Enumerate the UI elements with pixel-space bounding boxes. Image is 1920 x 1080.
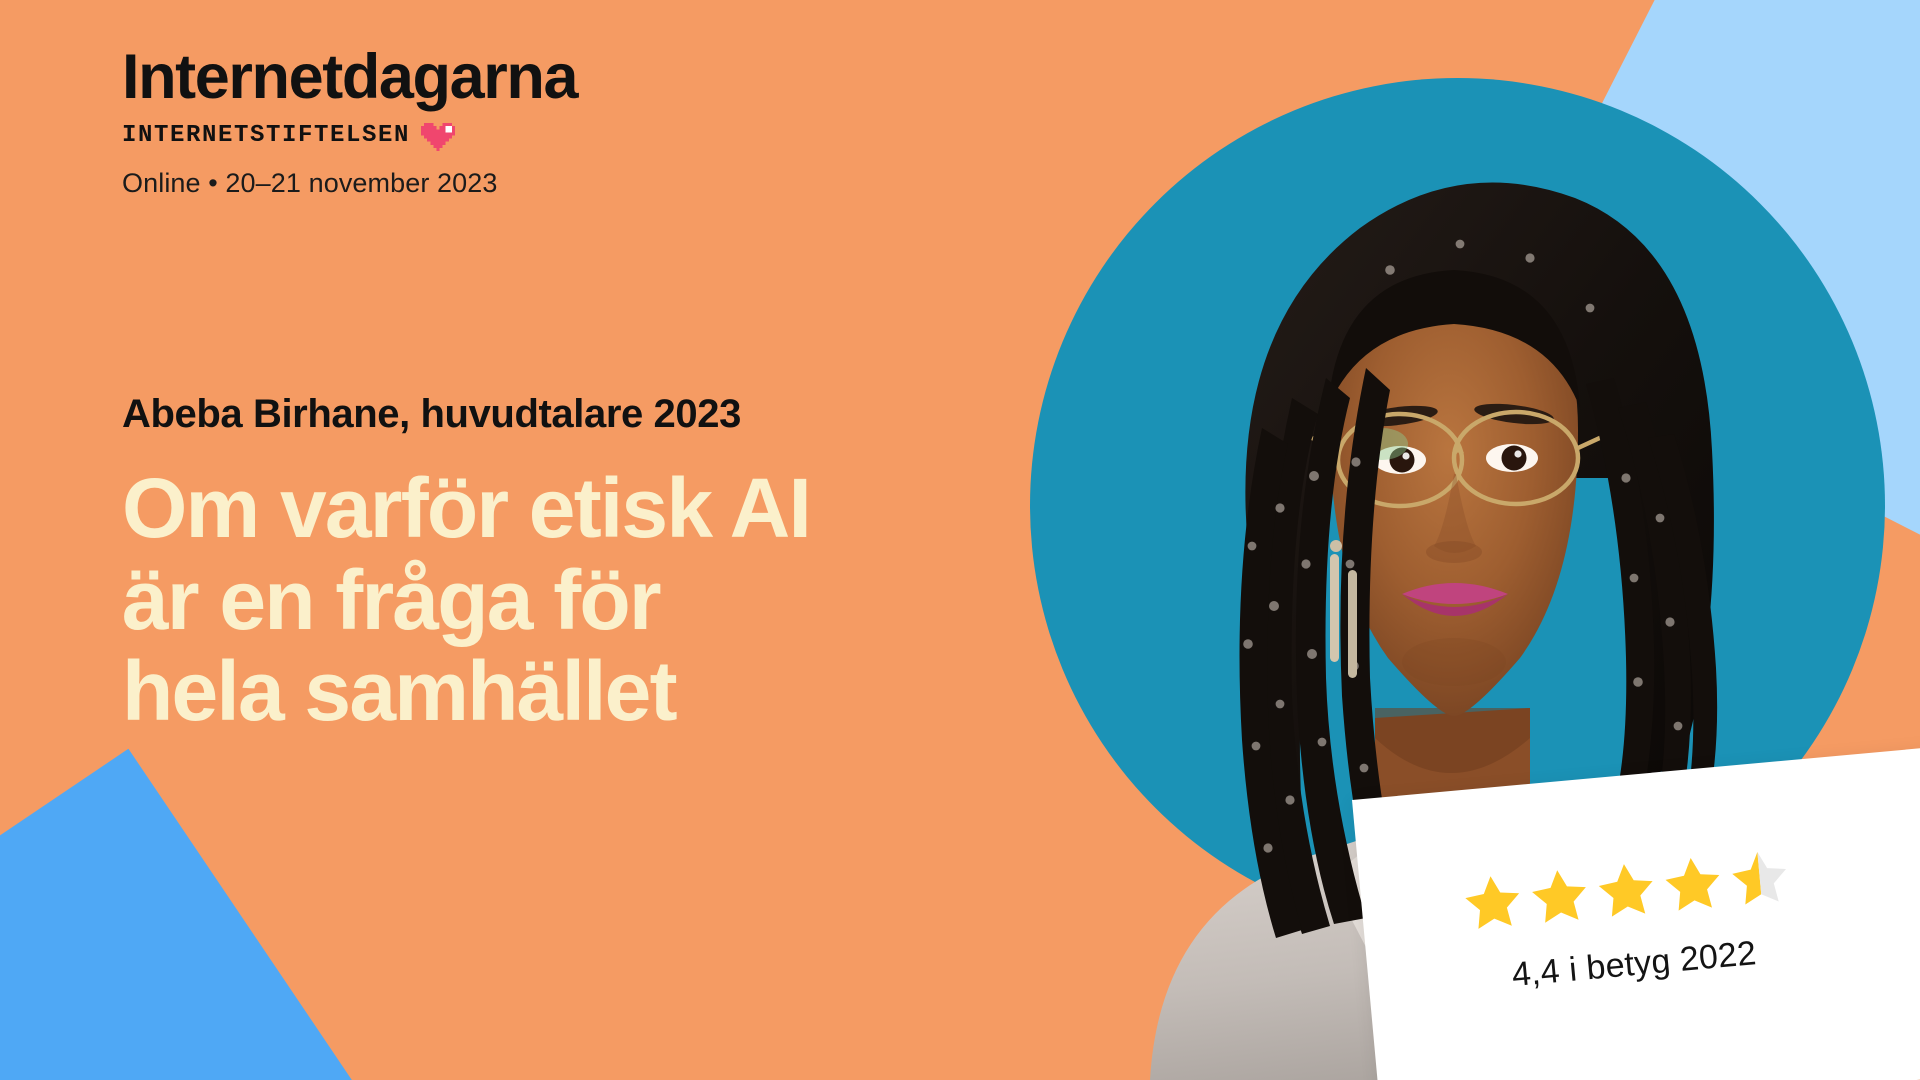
speaker-name-role: Abeba Birhane, huvudtalare 2023	[122, 392, 1022, 437]
event-title: Internetdagarna	[122, 46, 577, 109]
brand-lockup: Internetdagarna INTERNETSTIFTELSEN	[122, 46, 577, 199]
organisation-name: INTERNETSTIFTELSEN	[122, 122, 410, 149]
rating-card: 4,4 i betyg 2022	[1352, 742, 1920, 1080]
star-icon	[1659, 851, 1726, 916]
star-rating	[1459, 845, 1793, 935]
star-icon	[1459, 869, 1526, 934]
rating-label: 4,4 i betyg 2022	[1510, 934, 1758, 995]
session-title-line-1: Om varför etisk AI	[122, 463, 1022, 555]
session-title: Om varför etisk AI är en fråga för hela …	[122, 463, 1022, 738]
event-date-format: Online • 20–21 november 2023	[122, 168, 577, 199]
headline-block: Abeba Birhane, huvudtalare 2023 Om varfö…	[122, 392, 1022, 738]
decorative-blue-square-shape	[0, 749, 391, 1080]
star-icon	[1526, 863, 1593, 928]
event-promo-poster: Internetdagarna INTERNETSTIFTELSEN	[0, 0, 1920, 1080]
pixel-heart-icon	[421, 120, 455, 151]
half-star-icon	[1726, 845, 1793, 910]
organisation-row: INTERNETSTIFTELSEN	[122, 120, 577, 151]
session-title-line-2: är en fråga för	[122, 555, 1022, 647]
session-title-line-3: hela samhället	[122, 646, 1022, 738]
star-icon	[1593, 857, 1660, 922]
